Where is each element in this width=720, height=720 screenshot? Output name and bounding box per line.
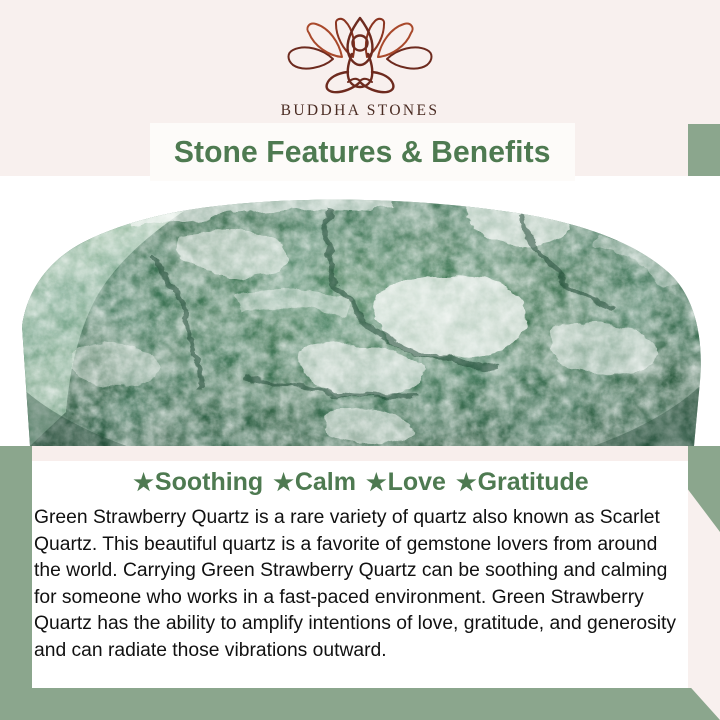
description-text: Green Strawberry Quartz is a rare variet… [32,505,688,664]
brand-header: BUDDHA STONES [0,0,720,124]
brand-logo: BUDDHA STONES [0,16,720,120]
benefit-label-calm: Calm [295,468,356,496]
star-icon: ★ [366,469,387,495]
title-plate: Stone Features & Benefits [150,123,575,181]
star-icon: ★ [133,469,154,495]
cream-divider-strip [32,446,688,461]
frame-band-bottom [0,688,720,720]
star-icon: ★ [273,469,294,495]
infographic-card: BUDDHA STONES Stone Features & Benefits [0,0,720,720]
lotus-meditation-icon [285,16,435,99]
star-icon: ★ [456,469,477,495]
stone-photo: Green Strawberry Quartz [0,176,720,446]
content-panel: ★Soothing★Calm★Love★Gratitude Green Stra… [32,461,688,688]
benefit-label-soothing: Soothing [155,468,263,496]
benefit-label-love: Love [388,468,446,496]
page-title: Stone Features & Benefits [174,134,551,170]
brand-name: BUDDHA STONES [281,102,440,120]
benefits-list: ★Soothing★Calm★Love★Gratitude [32,468,688,497]
benefit-label-gratitude: Gratitude [478,468,589,496]
green-strawberry-quartz-image [0,176,720,446]
